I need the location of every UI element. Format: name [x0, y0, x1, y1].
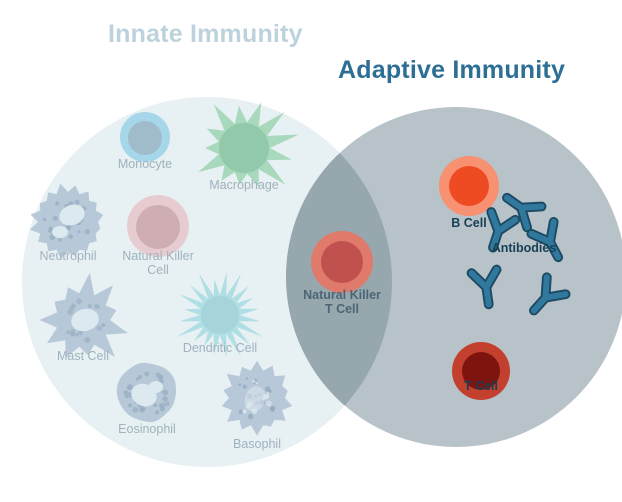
label-eosinophil: Eosinophil — [67, 422, 227, 436]
nk-cell-icon — [127, 195, 189, 257]
label-monocyte: Monocyte — [65, 157, 225, 171]
label-antibodies: Antibodies — [444, 241, 604, 255]
label-natural-killer-t-cell: Natural Killer T Cell — [262, 288, 422, 317]
label-macrophage: Macrophage — [164, 178, 324, 192]
label-basophil: Basophil — [177, 437, 337, 451]
label-mast-cell: Mast Cell — [3, 349, 163, 363]
venn-diagram-figure: Innate Immunity Adaptive Immunity Monocy… — [0, 0, 622, 502]
label-dendritic-cell: Dendritic Cell — [140, 341, 300, 355]
label-t-cell: T Cell — [401, 379, 561, 393]
monocyte-icon — [120, 112, 170, 162]
b-cell-icon — [439, 156, 499, 216]
label-b-cell: B Cell — [389, 216, 549, 230]
label-natural-killer-cell: Natural Killer Cell — [78, 249, 238, 278]
nkt-cell-icon — [311, 231, 373, 293]
